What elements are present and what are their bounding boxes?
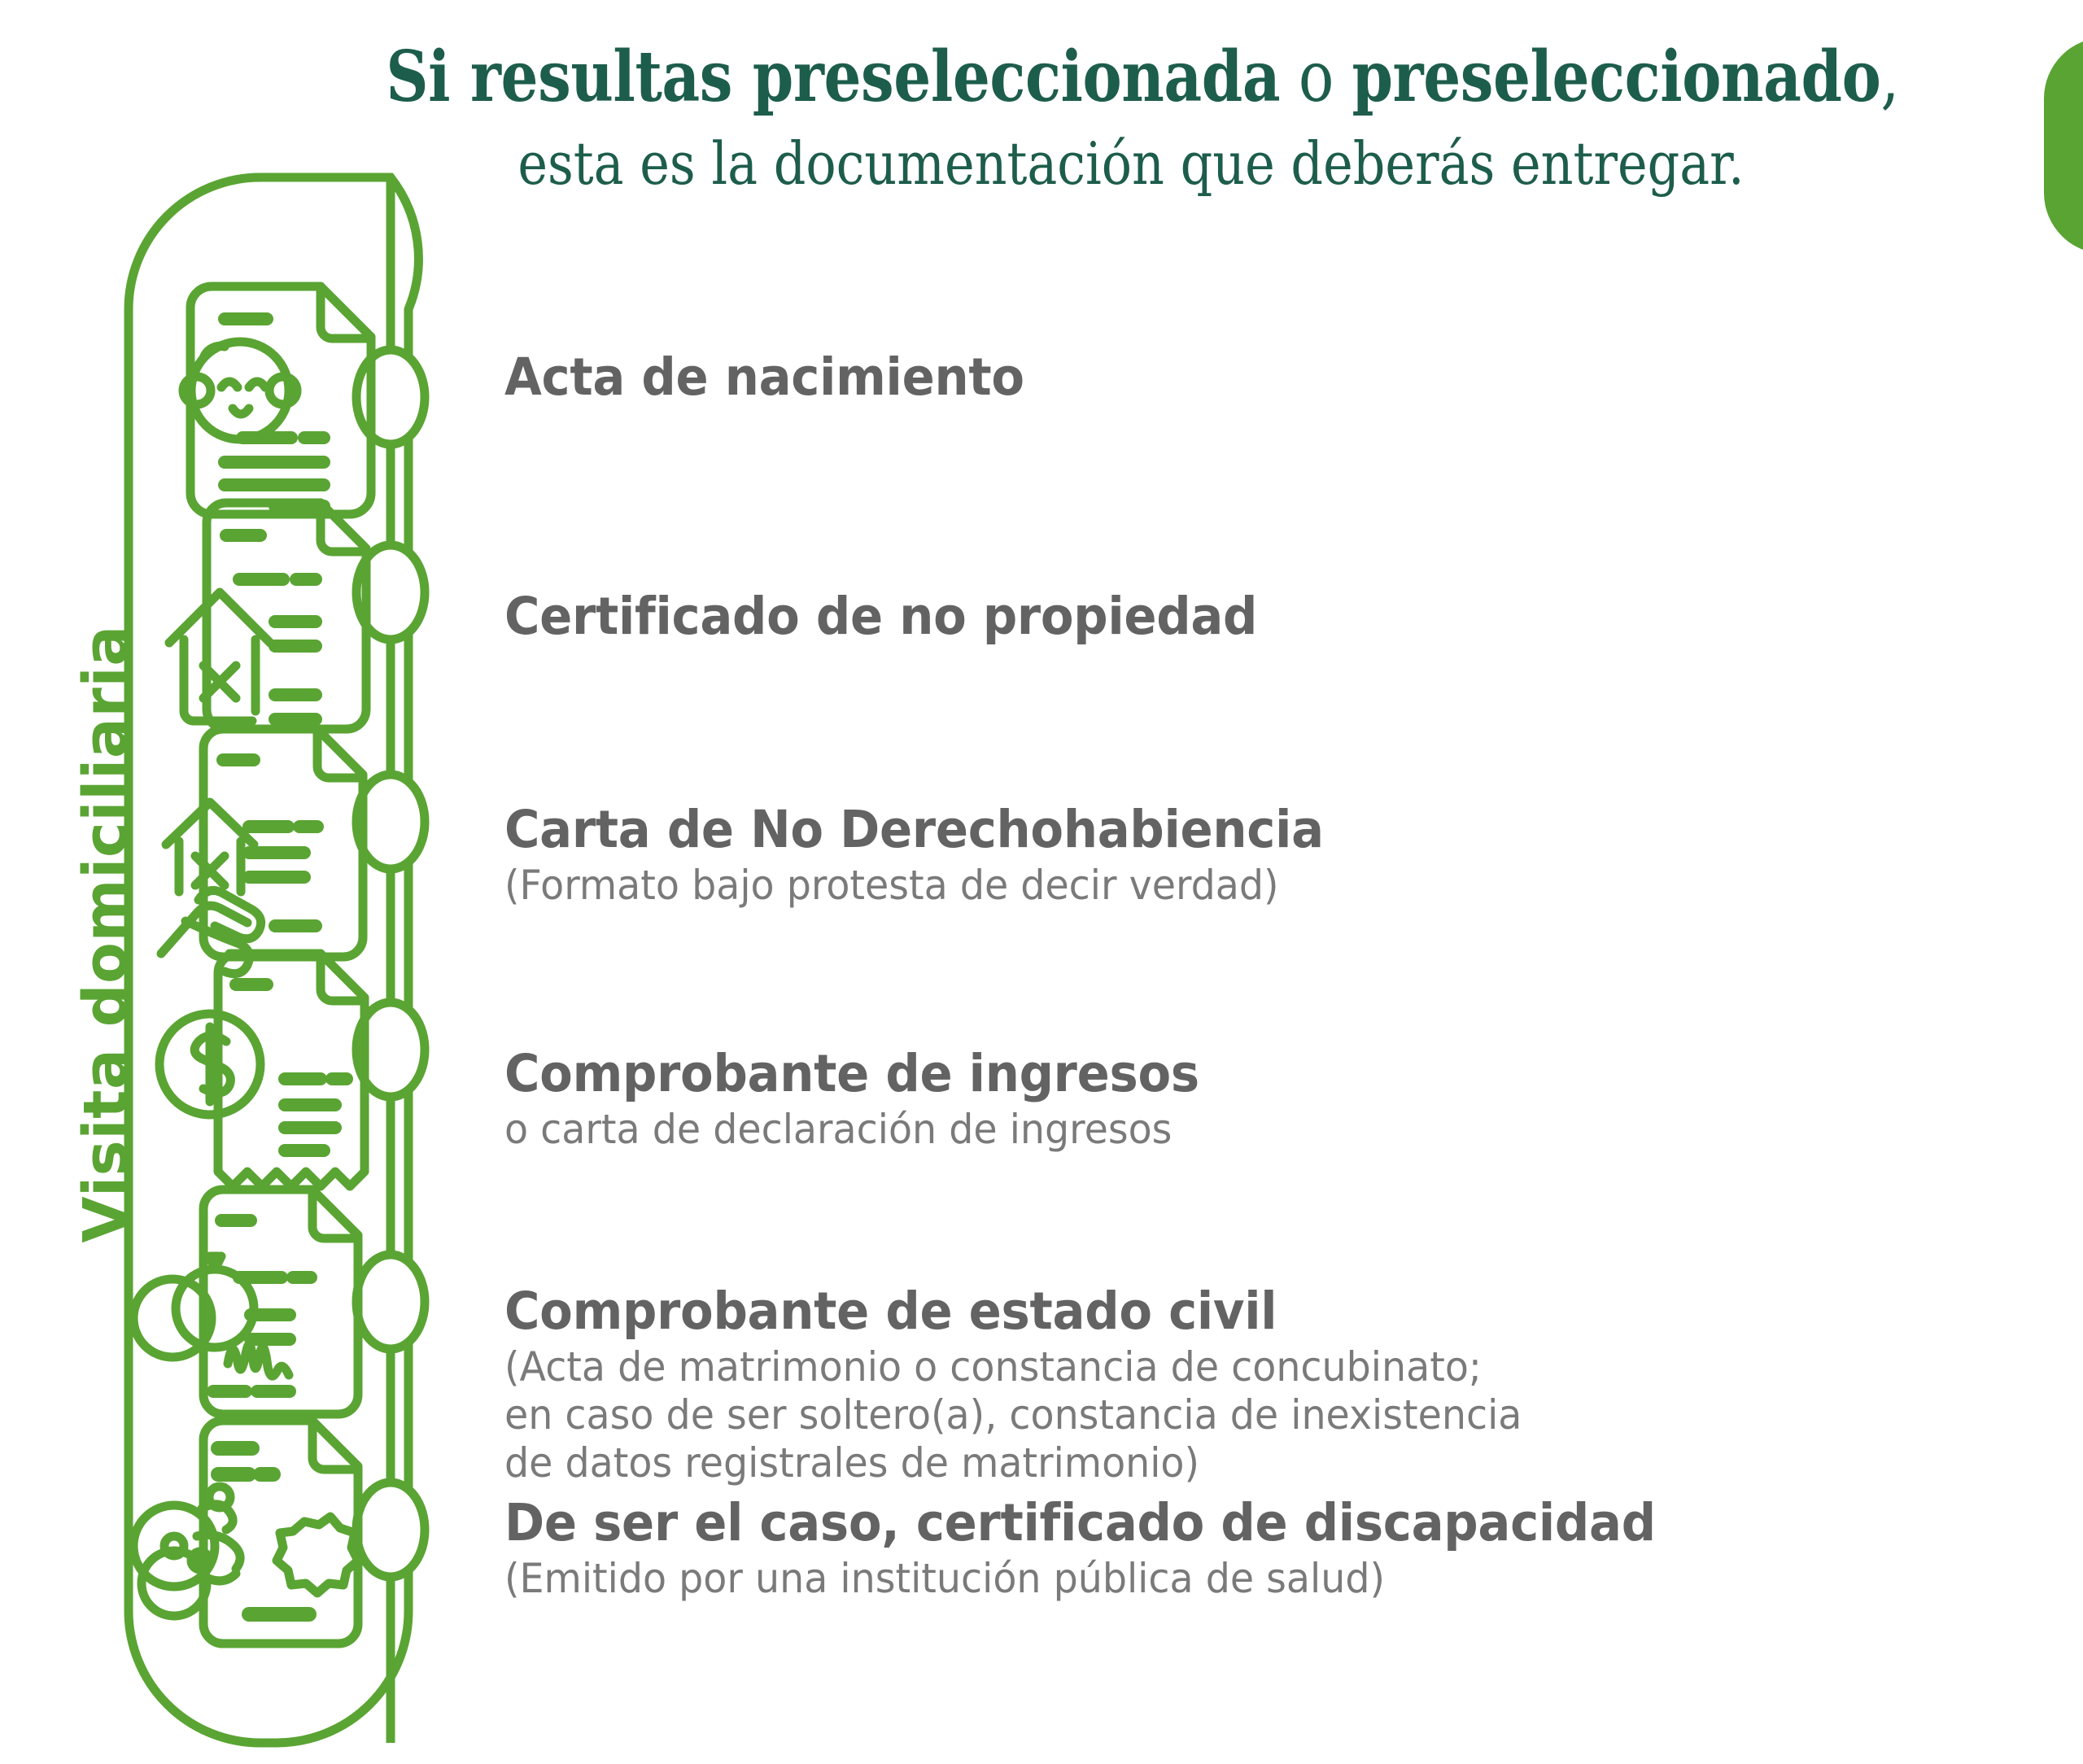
list-item-6[interactable]: De ser el caso, certificado de discapaci… <box>504 1497 1729 1603</box>
list-item-5-subtitle: (Acta de matrimonio o constancia de conc… <box>504 1343 1522 1487</box>
list-item-5-title: Comprobante de estado civil <box>504 1286 1511 1337</box>
list-item-3-subtitle: (Formato bajo protesta de decir verdad) <box>504 862 1333 910</box>
list-item-4-subtitle: o carta de declaración de ingresos <box>504 1106 1207 1154</box>
list-item-2[interactable]: Certificado de no propiedad <box>504 591 1305 642</box>
list-item-5[interactable]: Comprobante de estado civil (Acta de mat… <box>504 1286 1575 1487</box>
document-list: Acta de nacimiento Certificado de no pro… <box>0 0 2083 1764</box>
list-item-4-title: Comprobante de ingresos <box>504 1048 1199 1099</box>
list-item-1-title: Acta de nacimiento <box>504 351 1024 403</box>
list-item-3-title: Carta de No Derechohabiencia <box>504 804 1324 855</box>
list-item-3[interactable]: Carta de No Derechohabiencia (Formato ba… <box>504 804 1376 910</box>
list-item-6-title: De ser el caso, certificado de discapaci… <box>504 1497 1656 1548</box>
infographic-canvas: Si resultas preseleccionada o preselecci… <box>0 0 2083 1764</box>
list-item-4[interactable]: Comprobante de ingresos o carta de decla… <box>504 1048 1243 1154</box>
list-item-2-title: Certificado de no propiedad <box>504 591 1257 642</box>
list-item-1[interactable]: Acta de nacimiento <box>504 351 1058 403</box>
list-item-6-subtitle: (Emitido por una institución pública de … <box>504 1555 1668 1603</box>
